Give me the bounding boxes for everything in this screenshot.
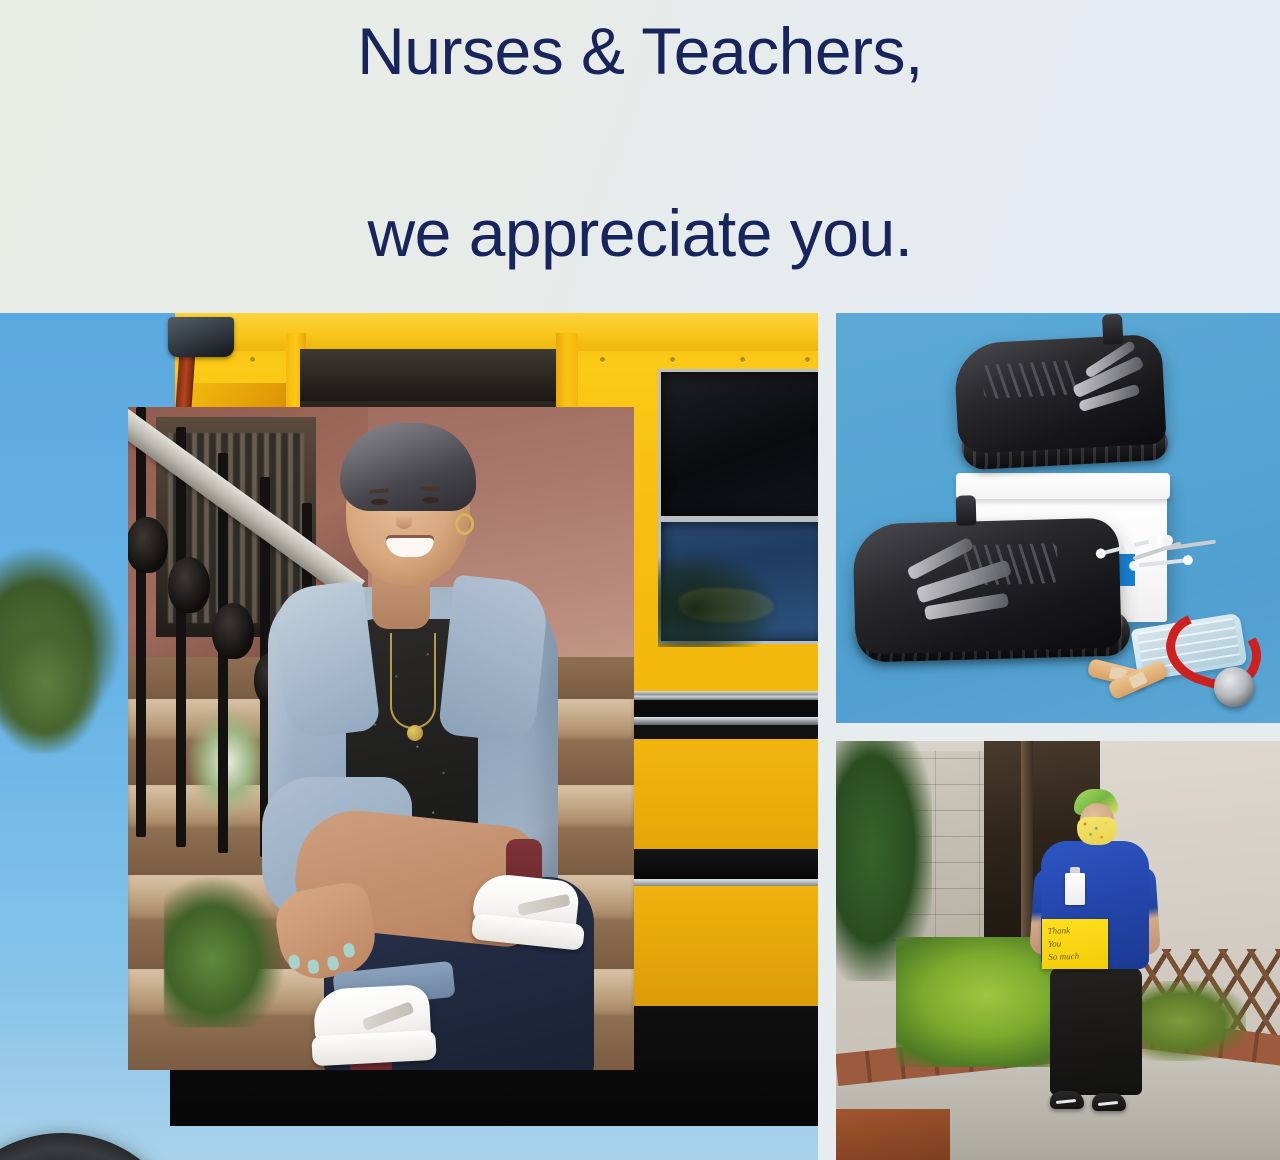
jacket-lapel-left [271, 580, 381, 740]
teacher-hair [340, 423, 476, 511]
nurse-face-mask-icon [1077, 817, 1117, 845]
eye-left [371, 499, 388, 505]
bus-window-lower [658, 519, 818, 644]
shrub-right-icon [1126, 981, 1246, 1061]
inset-image-teacher-portrait[interactable]: Teacher wearing denim jacket, sequin top… [128, 407, 634, 1070]
sneaker-lower-body [852, 518, 1121, 655]
sneaker-upper-body [953, 334, 1166, 455]
bus-mirror-icon [168, 317, 234, 357]
nose [396, 515, 412, 529]
bus-roofline [175, 313, 818, 351]
id-badge-icon [1065, 873, 1085, 905]
headline-line-2: we appreciate you. [357, 188, 923, 279]
stethoscope-earpiece-left [1124, 541, 1135, 552]
product-image-asics-sneakers[interactable]: Two black ASICS sneakers with a white fi… [836, 313, 1280, 723]
necklace-pendant-icon [407, 725, 423, 741]
hero-image-nurse[interactable]: Thank You So much Nurse in blue scrubs w… [836, 741, 1280, 1160]
thank-you-sign: Thank You So much [1042, 919, 1108, 969]
first-aid-box-lid [956, 473, 1170, 499]
headline-line-1: Nurses & Teachers, [357, 6, 923, 97]
promo-page: Nurses & Teachers, we appreciate you. [0, 0, 1280, 1160]
nurse-shoe-right [1092, 1093, 1126, 1111]
bus-door-header-panel [300, 349, 562, 401]
stethoscope-earpiece-right [1162, 535, 1173, 546]
jacket-lapel-right [438, 574, 550, 743]
bus-window-upper [658, 369, 818, 519]
nurse-scrub-pants [1050, 967, 1142, 1095]
thank-you-sign-text: Thank You So much [1041, 918, 1109, 970]
gold-necklace-icon [390, 633, 436, 729]
railing-handrail [128, 407, 365, 602]
hoop-earring-icon [455, 513, 474, 535]
tree-foliage-secondary-icon [0, 613, 100, 753]
nurse-shoe-left [1050, 1091, 1084, 1109]
eye-right [422, 497, 439, 503]
wooden-planter-box [836, 1109, 950, 1160]
stethoscope-chestpiece-icon [1214, 667, 1254, 707]
hero-header: Nurses & Teachers, we appreciate you. [0, 0, 1280, 313]
